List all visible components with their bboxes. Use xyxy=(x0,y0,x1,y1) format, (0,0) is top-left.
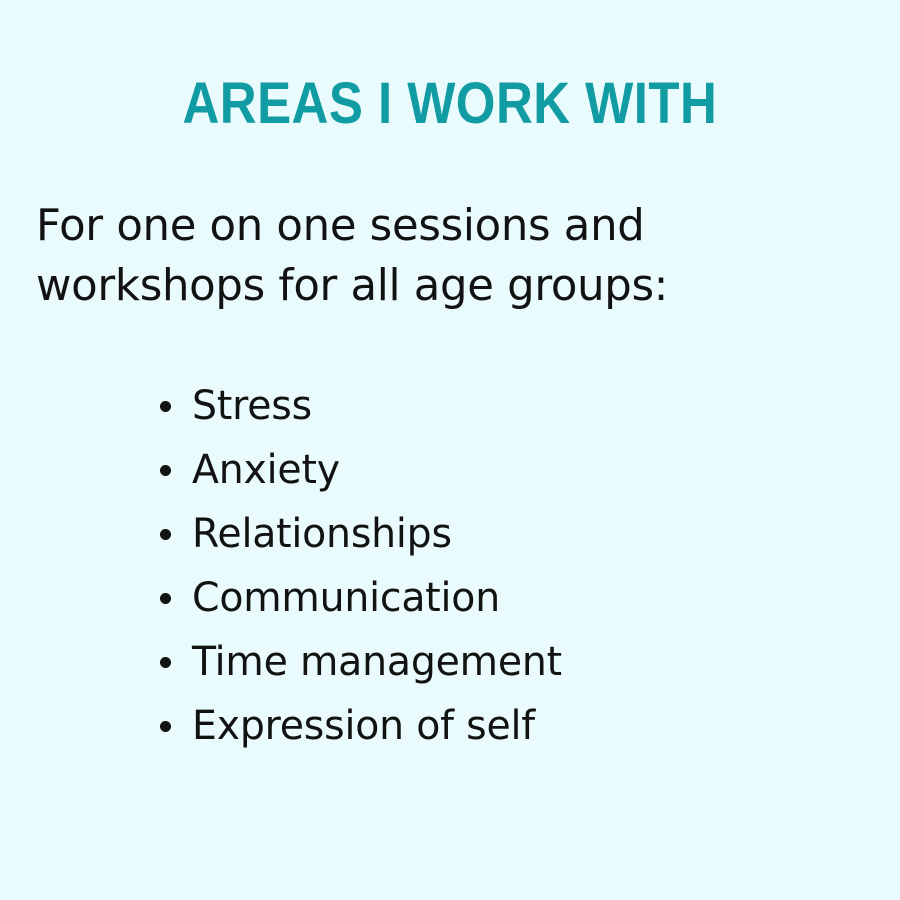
bullet-dot-icon xyxy=(160,465,171,476)
page-title: AREAS I WORK WITH xyxy=(183,74,718,134)
list-item-label: Communication xyxy=(192,574,500,622)
list-item: Stress xyxy=(152,382,568,446)
list-item: Communication xyxy=(152,574,568,638)
list-item: Anxiety xyxy=(152,446,568,510)
page-title-container: AREAS I WORK WITH xyxy=(0,74,900,134)
bullet-dot-icon xyxy=(160,593,171,604)
intro-paragraph: For one on one sessions and workshops fo… xyxy=(36,196,859,316)
slide-canvas: AREAS I WORK WITH For one on one session… xyxy=(0,0,900,900)
bullet-dot-icon xyxy=(160,657,171,668)
list-item-label: Time management xyxy=(192,638,562,686)
areas-list: Stress Anxiety Relationships Communicati… xyxy=(152,382,568,766)
list-item-label: Stress xyxy=(192,382,312,430)
list-item: Time management xyxy=(152,638,568,702)
list-item-label: Anxiety xyxy=(192,446,340,494)
bullet-dot-icon xyxy=(160,721,171,732)
bullet-dot-icon xyxy=(160,401,171,412)
bullet-dot-icon xyxy=(160,529,171,540)
list-item: Relationships xyxy=(152,510,568,574)
list-item-label: Relationships xyxy=(192,510,452,558)
list-item: Expression of self xyxy=(152,702,568,766)
list-item-label: Expression of self xyxy=(192,702,535,750)
